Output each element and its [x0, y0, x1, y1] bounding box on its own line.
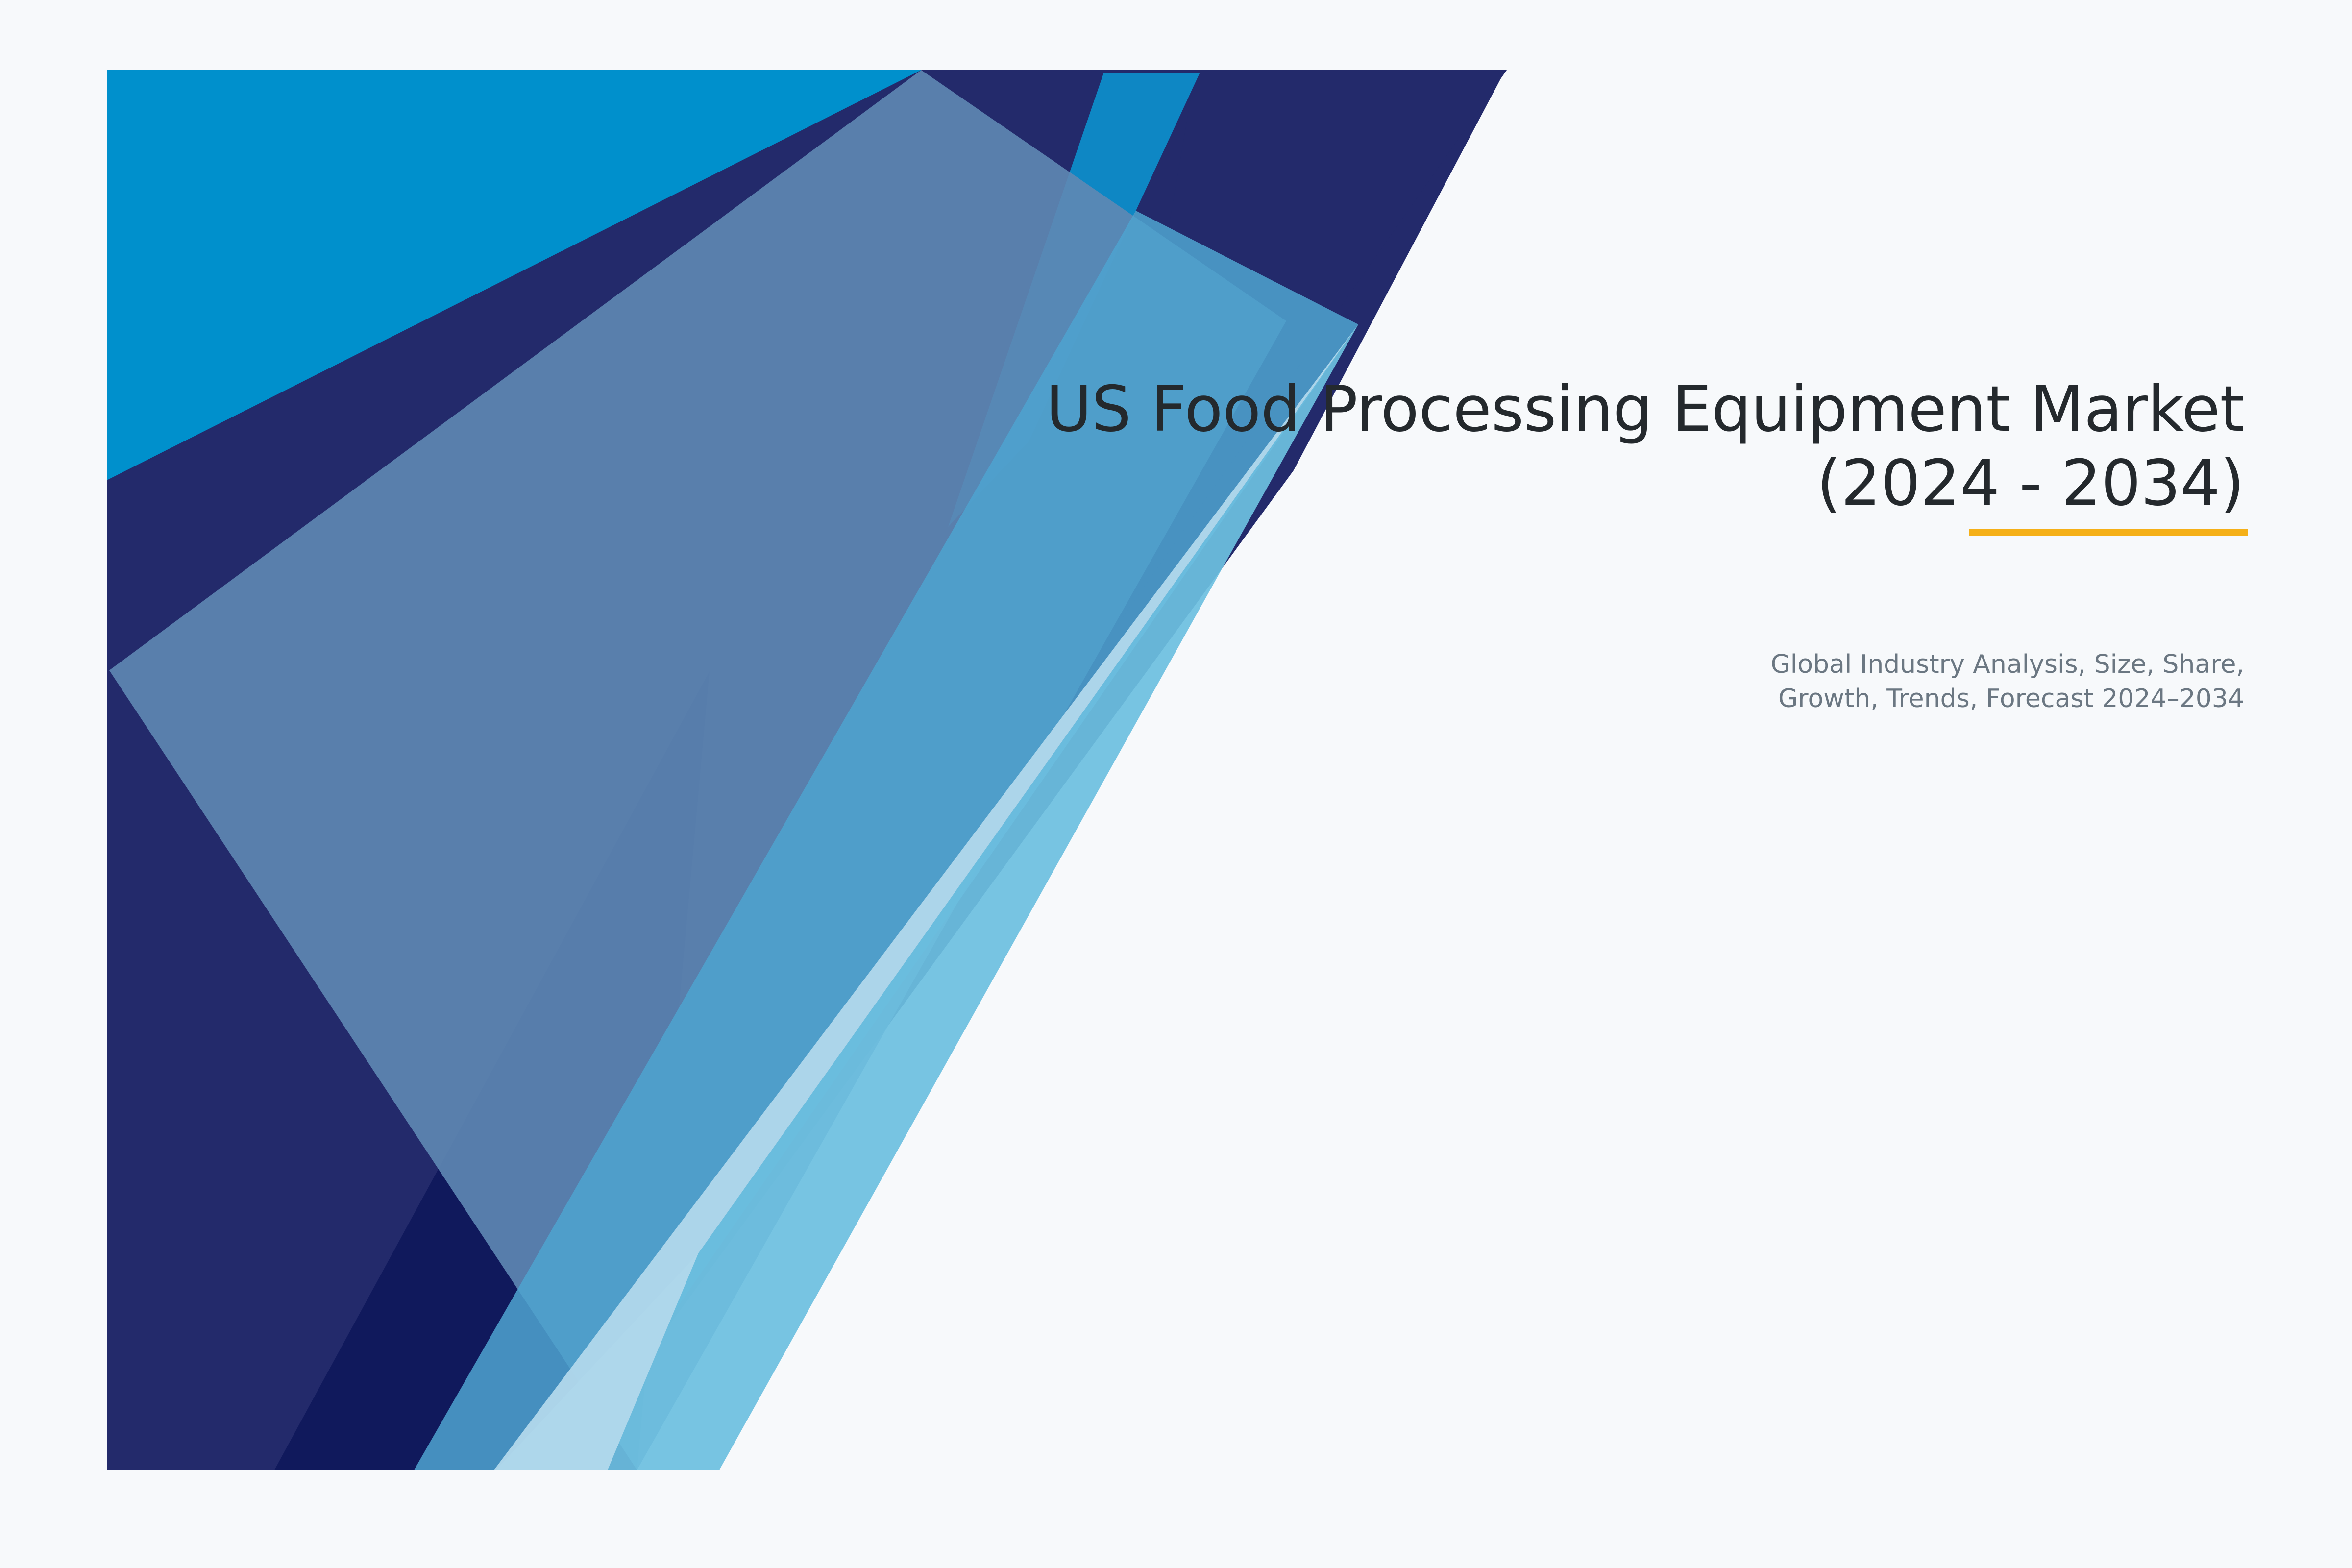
- page-title: US Food Processing Equipment Market(2024…: [774, 372, 2244, 520]
- accent-underline: [1969, 529, 2248, 536]
- page-subtitle: Global Industry Analysis, Size, Share,Gr…: [1597, 648, 2244, 716]
- page-title-line-2: (2024 - 2034): [1817, 447, 2244, 520]
- page-subtitle-line-1: Global Industry Analysis, Size, Share,: [1770, 650, 2244, 679]
- cover-artwork: [0, 0, 2352, 1568]
- cover-page: US Food Processing Equipment Market(2024…: [0, 0, 2352, 1568]
- page-title-line-1: US Food Processing Equipment Market: [1046, 373, 2244, 446]
- page-subtitle-line-2: Growth, Trends, Forecast 2024–2034: [1778, 684, 2244, 713]
- title-block: US Food Processing Equipment Market(2024…: [774, 372, 2244, 520]
